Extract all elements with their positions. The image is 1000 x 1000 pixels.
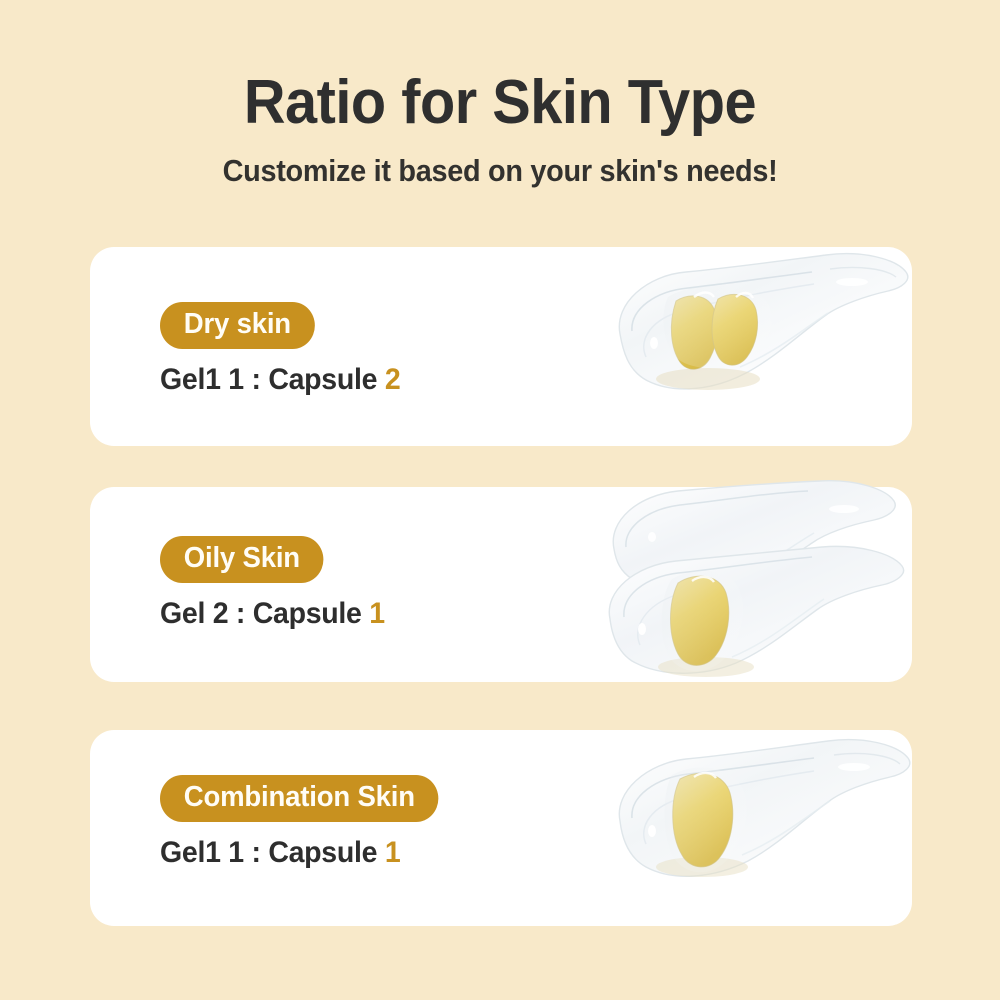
ratio-prefix: Gel 2 : Capsule bbox=[160, 597, 369, 630]
card-text-block: Dry skin Gel1 1 : Capsule 2 bbox=[160, 302, 413, 397]
skin-type-ratio-infographic: Ratio for Skin Type Customize it based o… bbox=[0, 0, 1000, 1000]
gel-swatch-image bbox=[590, 239, 920, 454]
status-badge: Combination Skin bbox=[160, 775, 439, 822]
ratio-text: Gel1 1 : Capsule 1 bbox=[160, 836, 439, 870]
card-text-block: Oily Skin Gel 2 : Capsule 1 bbox=[160, 536, 397, 631]
page-title: Ratio for Skin Type bbox=[35, 70, 965, 135]
card-text-block: Combination Skin Gel1 1 : Capsule 1 bbox=[160, 775, 453, 870]
status-badge: Oily Skin bbox=[160, 536, 324, 583]
gel-swatch-image bbox=[590, 725, 925, 930]
skin-type-card-dry: Dry skin Gel1 1 : Capsule 2 bbox=[90, 247, 912, 446]
ratio-text: Gel1 1 : Capsule 2 bbox=[160, 363, 400, 397]
ratio-value: 1 bbox=[385, 836, 401, 869]
gel-swatch-image bbox=[580, 477, 925, 692]
ratio-value: 2 bbox=[385, 363, 401, 396]
page-subtitle: Customize it based on your skin's needs! bbox=[35, 135, 965, 189]
ratio-value: 1 bbox=[369, 597, 385, 630]
skin-type-card-oily: Oily Skin Gel 2 : Capsule 1 bbox=[90, 487, 912, 682]
ratio-prefix: Gel1 1 : Capsule bbox=[160, 363, 385, 396]
ratio-text: Gel 2 : Capsule 1 bbox=[160, 597, 385, 631]
status-badge: Dry skin bbox=[160, 302, 315, 349]
header: Ratio for Skin Type Customize it based o… bbox=[0, 0, 1000, 189]
ratio-prefix: Gel1 1 : Capsule bbox=[160, 836, 385, 869]
skin-type-card-combination: Combination Skin Gel1 1 : Capsule 1 bbox=[90, 730, 912, 926]
